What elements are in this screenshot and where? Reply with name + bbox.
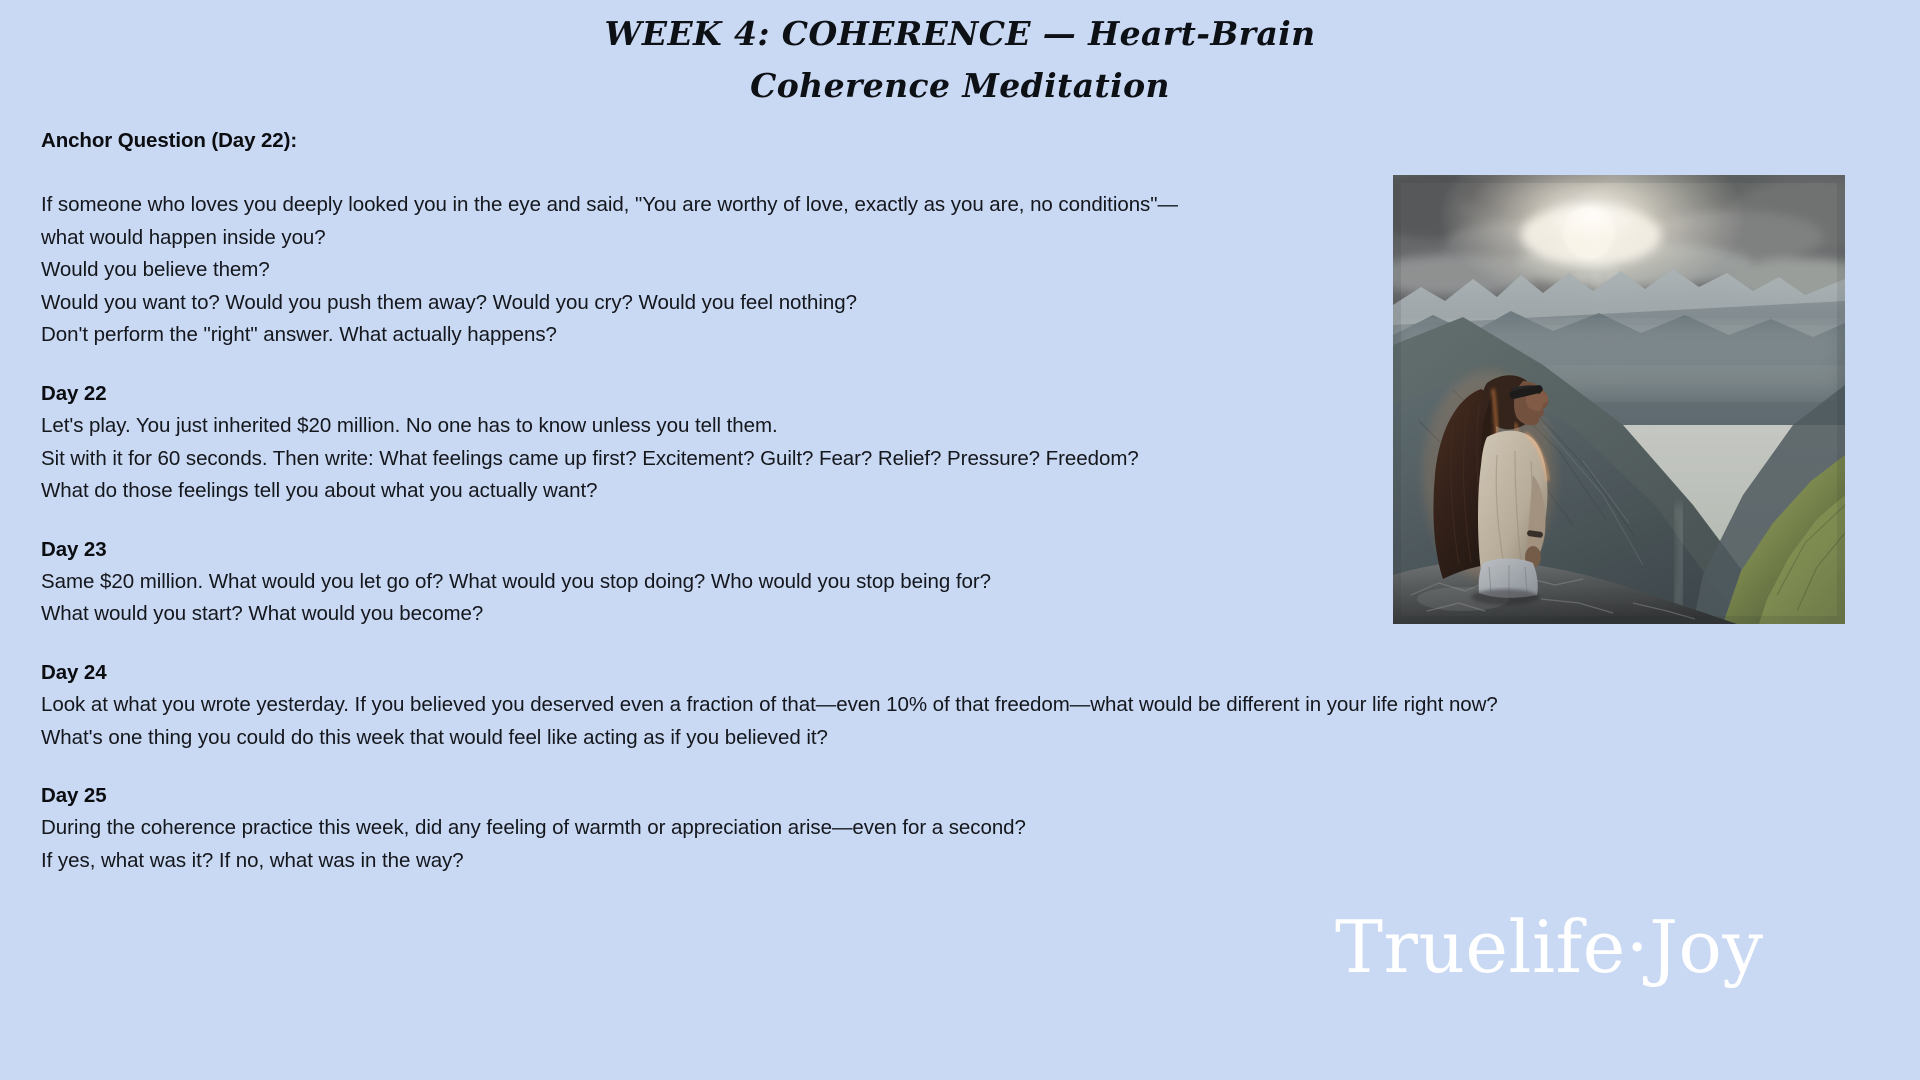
anchor-question-heading: Anchor Question (Day 22): (41, 126, 1861, 155)
spacer (41, 754, 1861, 781)
day-section-25: Day 25 During the coherence practice thi… (41, 781, 1861, 877)
day-line: Look at what you wrote yesterday. If you… (41, 689, 1861, 722)
mountain-sunrise-photo (1393, 175, 1845, 624)
day-section-24: Day 24 Look at what you wrote yesterday.… (41, 658, 1861, 754)
page-title: WEEK 4: COHERENCE — Heart-Brain Coherenc… (0, 8, 1920, 112)
day-line: During the coherence practice this week,… (41, 812, 1861, 845)
page-title-line-2: Coherence Meditation (0, 60, 1920, 112)
day-heading: Day 24 (41, 658, 1861, 687)
day-heading: Day 25 (41, 781, 1861, 810)
truelife-joy-logo: Truelife·Joy (1335, 908, 1755, 986)
day-line: What's one thing you could do this week … (41, 722, 1861, 755)
spacer (41, 631, 1861, 658)
day-line: If yes, what was it? If no, what was in … (41, 845, 1861, 878)
page-title-line-1: WEEK 4: COHERENCE — Heart-Brain (0, 8, 1920, 60)
